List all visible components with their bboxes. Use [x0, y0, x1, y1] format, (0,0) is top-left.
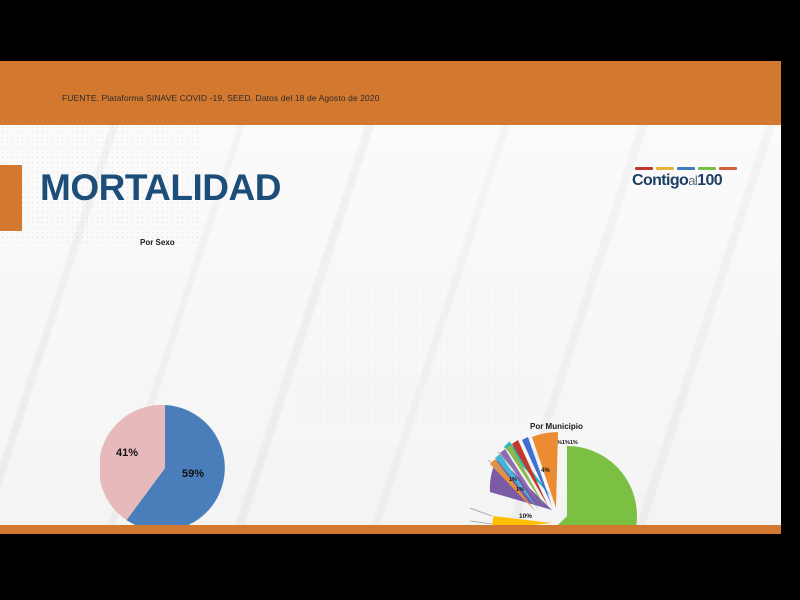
pie-label-jm-pct: 1% [509, 477, 517, 483]
logo-wordmark: Contigoal100 [632, 173, 746, 189]
logo-dash-orange [719, 167, 737, 170]
pie-chart-por-sexo [100, 403, 230, 525]
logo-dashes [632, 167, 746, 170]
logo-text-100: 100 [697, 172, 722, 189]
logo-dash-green [698, 167, 716, 170]
source-note: FUENTE. Plataforma SINAVE COVID -19, SEE… [62, 93, 380, 103]
contigo-al-100-logo: Contigoal100 [632, 167, 746, 197]
pie-label-mujer-pct: 41% [116, 447, 138, 459]
screenshot-canvas: FUENTE. Plataforma SINAVE COVID -19, SEE… [0, 0, 800, 600]
pie-slices-por-municipio [470, 432, 637, 525]
pie-label-foraneos-pct: 10% [519, 513, 532, 520]
chart-title-por-sexo: Por Sexo [140, 238, 175, 247]
logo-dash-blue [677, 167, 695, 170]
slide-body: MORTALIDAD Contigoal100 Por Sexo 59% 41% [0, 125, 781, 525]
pie-slice-ags [518, 446, 637, 525]
pie-label-el-llano-pct: 4% [541, 468, 550, 474]
logo-text-al: al [688, 173, 697, 188]
dot-pattern-decoration-2 [300, 275, 540, 425]
logo-dash-red [635, 167, 653, 170]
orange-accent-block [0, 165, 22, 231]
bottom-orange-band [0, 525, 781, 534]
logo-dash-yellow [656, 167, 674, 170]
pie-chart-por-municipio [470, 420, 650, 525]
pie-label-hombre-pct: 59% [182, 468, 204, 480]
page-title: MORTALIDAD [40, 167, 281, 209]
logo-text-contigo: Contigo [632, 172, 688, 189]
pie-label-asientos-pct: 1% [516, 487, 524, 493]
